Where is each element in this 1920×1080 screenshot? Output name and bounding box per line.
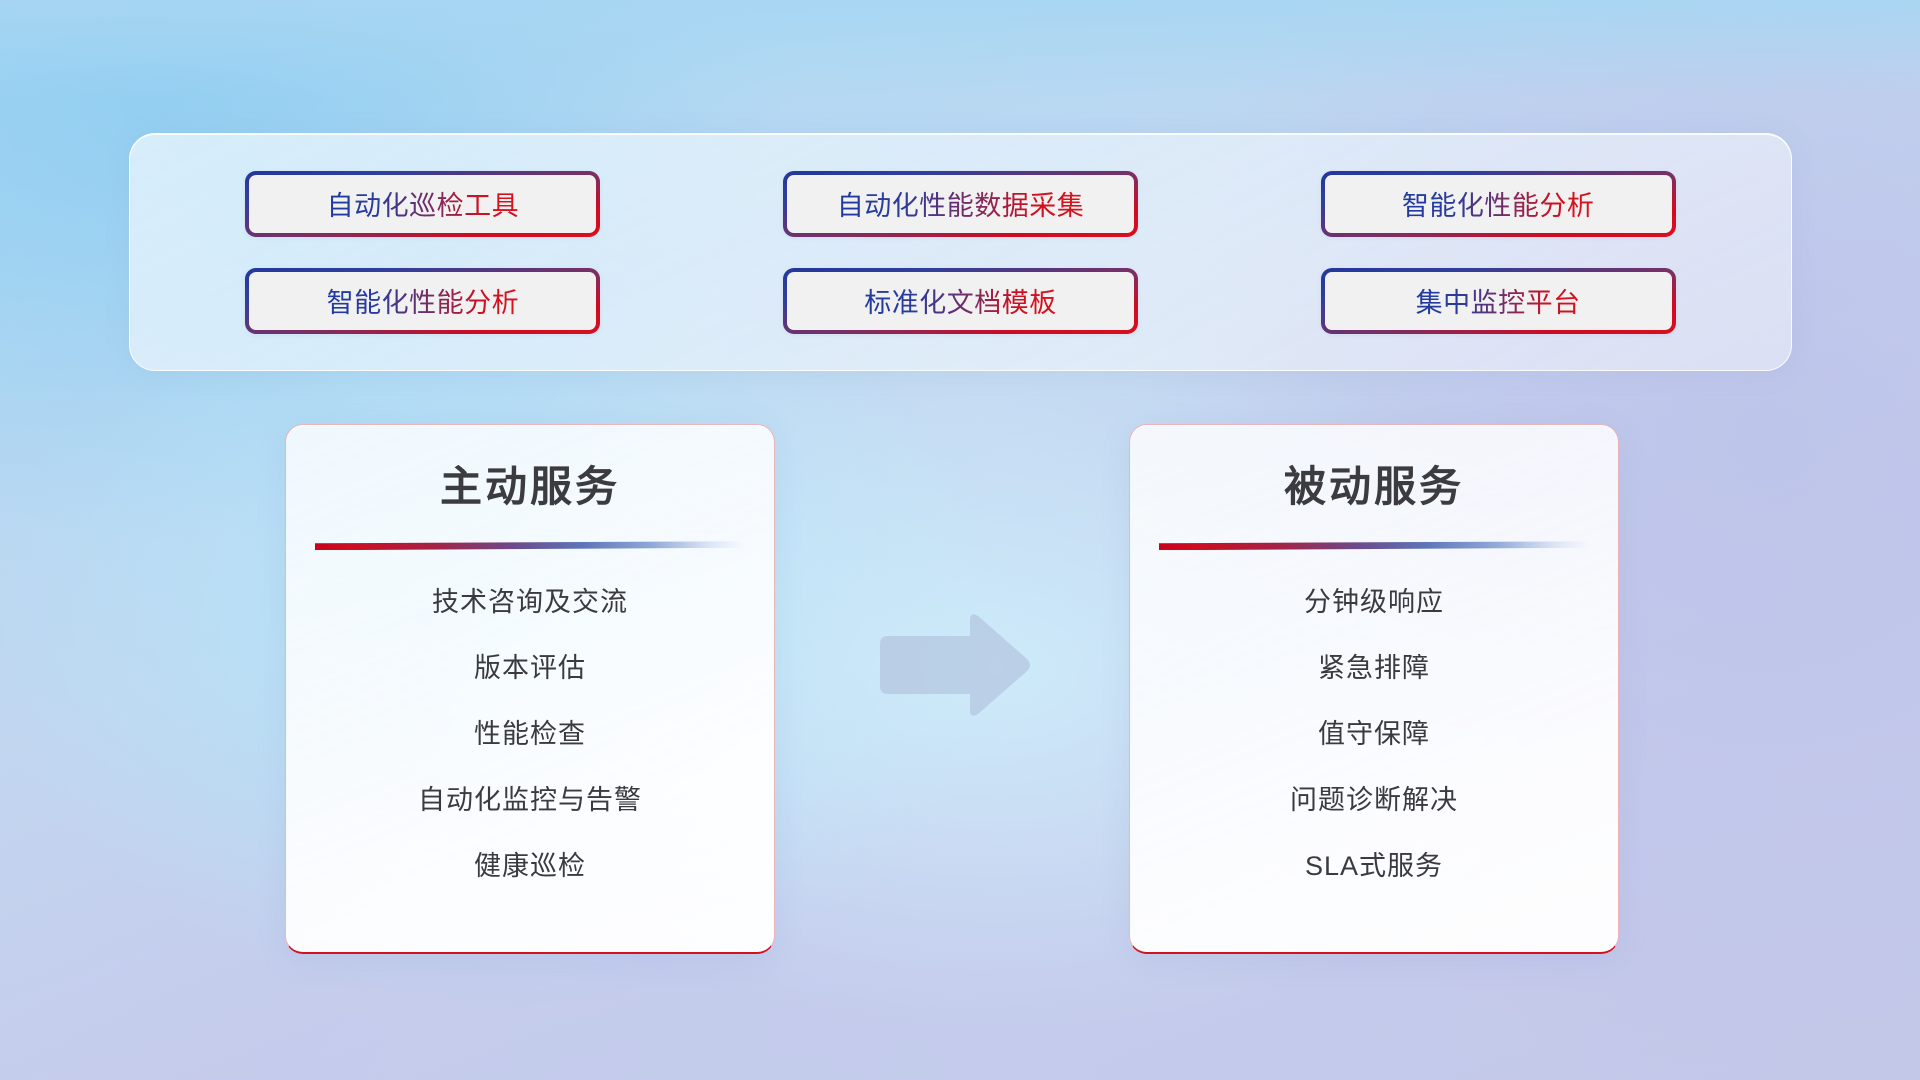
card-service-list: 分钟级响应 紧急排障 值守保障 问题诊断解决 SLA式服务: [1160, 580, 1588, 883]
card-title: 主动服务: [440, 463, 620, 511]
list-item: 性能检查: [474, 712, 586, 751]
card-title-underline: [315, 541, 745, 550]
chip-centralized-monitoring-platform[interactable]: 集中监控平台: [1321, 268, 1676, 334]
chip-automated-inspection-tool[interactable]: 自动化巡检工具: [245, 171, 600, 237]
arrow-right-icon: [874, 610, 1034, 720]
chip-label: 智能化性能分析: [1402, 184, 1595, 223]
list-item: 紧急排障: [1318, 646, 1430, 685]
chip-label: 自动化巡检工具: [327, 184, 520, 223]
list-item: 分钟级响应: [1304, 580, 1444, 619]
chip-automated-performance-data-collection[interactable]: 自动化性能数据采集: [783, 171, 1138, 237]
chip-label: 集中监控平台: [1416, 281, 1581, 320]
card-reactive-service: 被动服务 分钟级响应 紧急排障 值守保障 问题诊断解决 SLA式服务: [1129, 424, 1619, 954]
card-service-list: 技术咨询及交流 版本评估 性能检查 自动化监控与告警 健康巡检: [316, 580, 744, 883]
chip-intelligent-performance-analysis-2[interactable]: 智能化性能分析: [245, 268, 600, 334]
chip-intelligent-performance-analysis-1[interactable]: 智能化性能分析: [1321, 171, 1676, 237]
list-item: 技术咨询及交流: [432, 580, 628, 619]
capability-chips-panel: 自动化巡检工具 自动化性能数据采集 智能化性能分析 智能化性能分析 标准化文档模…: [129, 133, 1792, 371]
list-item: 健康巡检: [474, 844, 586, 883]
list-item: 值守保障: [1318, 712, 1430, 751]
list-item: 问题诊断解决: [1290, 778, 1458, 817]
chip-label: 标准化文档模板: [864, 281, 1057, 320]
list-item: 版本评估: [474, 646, 586, 685]
chip-label: 智能化性能分析: [327, 281, 520, 320]
chip-standardized-document-template[interactable]: 标准化文档模板: [783, 268, 1138, 334]
list-item: SLA式服务: [1305, 844, 1443, 883]
chip-label: 自动化性能数据采集: [837, 184, 1085, 223]
card-title: 被动服务: [1284, 463, 1464, 511]
card-title-underline: [1159, 541, 1589, 550]
list-item: 自动化监控与告警: [418, 778, 642, 817]
card-proactive-service: 主动服务 技术咨询及交流 版本评估 性能检查 自动化监控与告警 健康巡检: [285, 424, 775, 954]
